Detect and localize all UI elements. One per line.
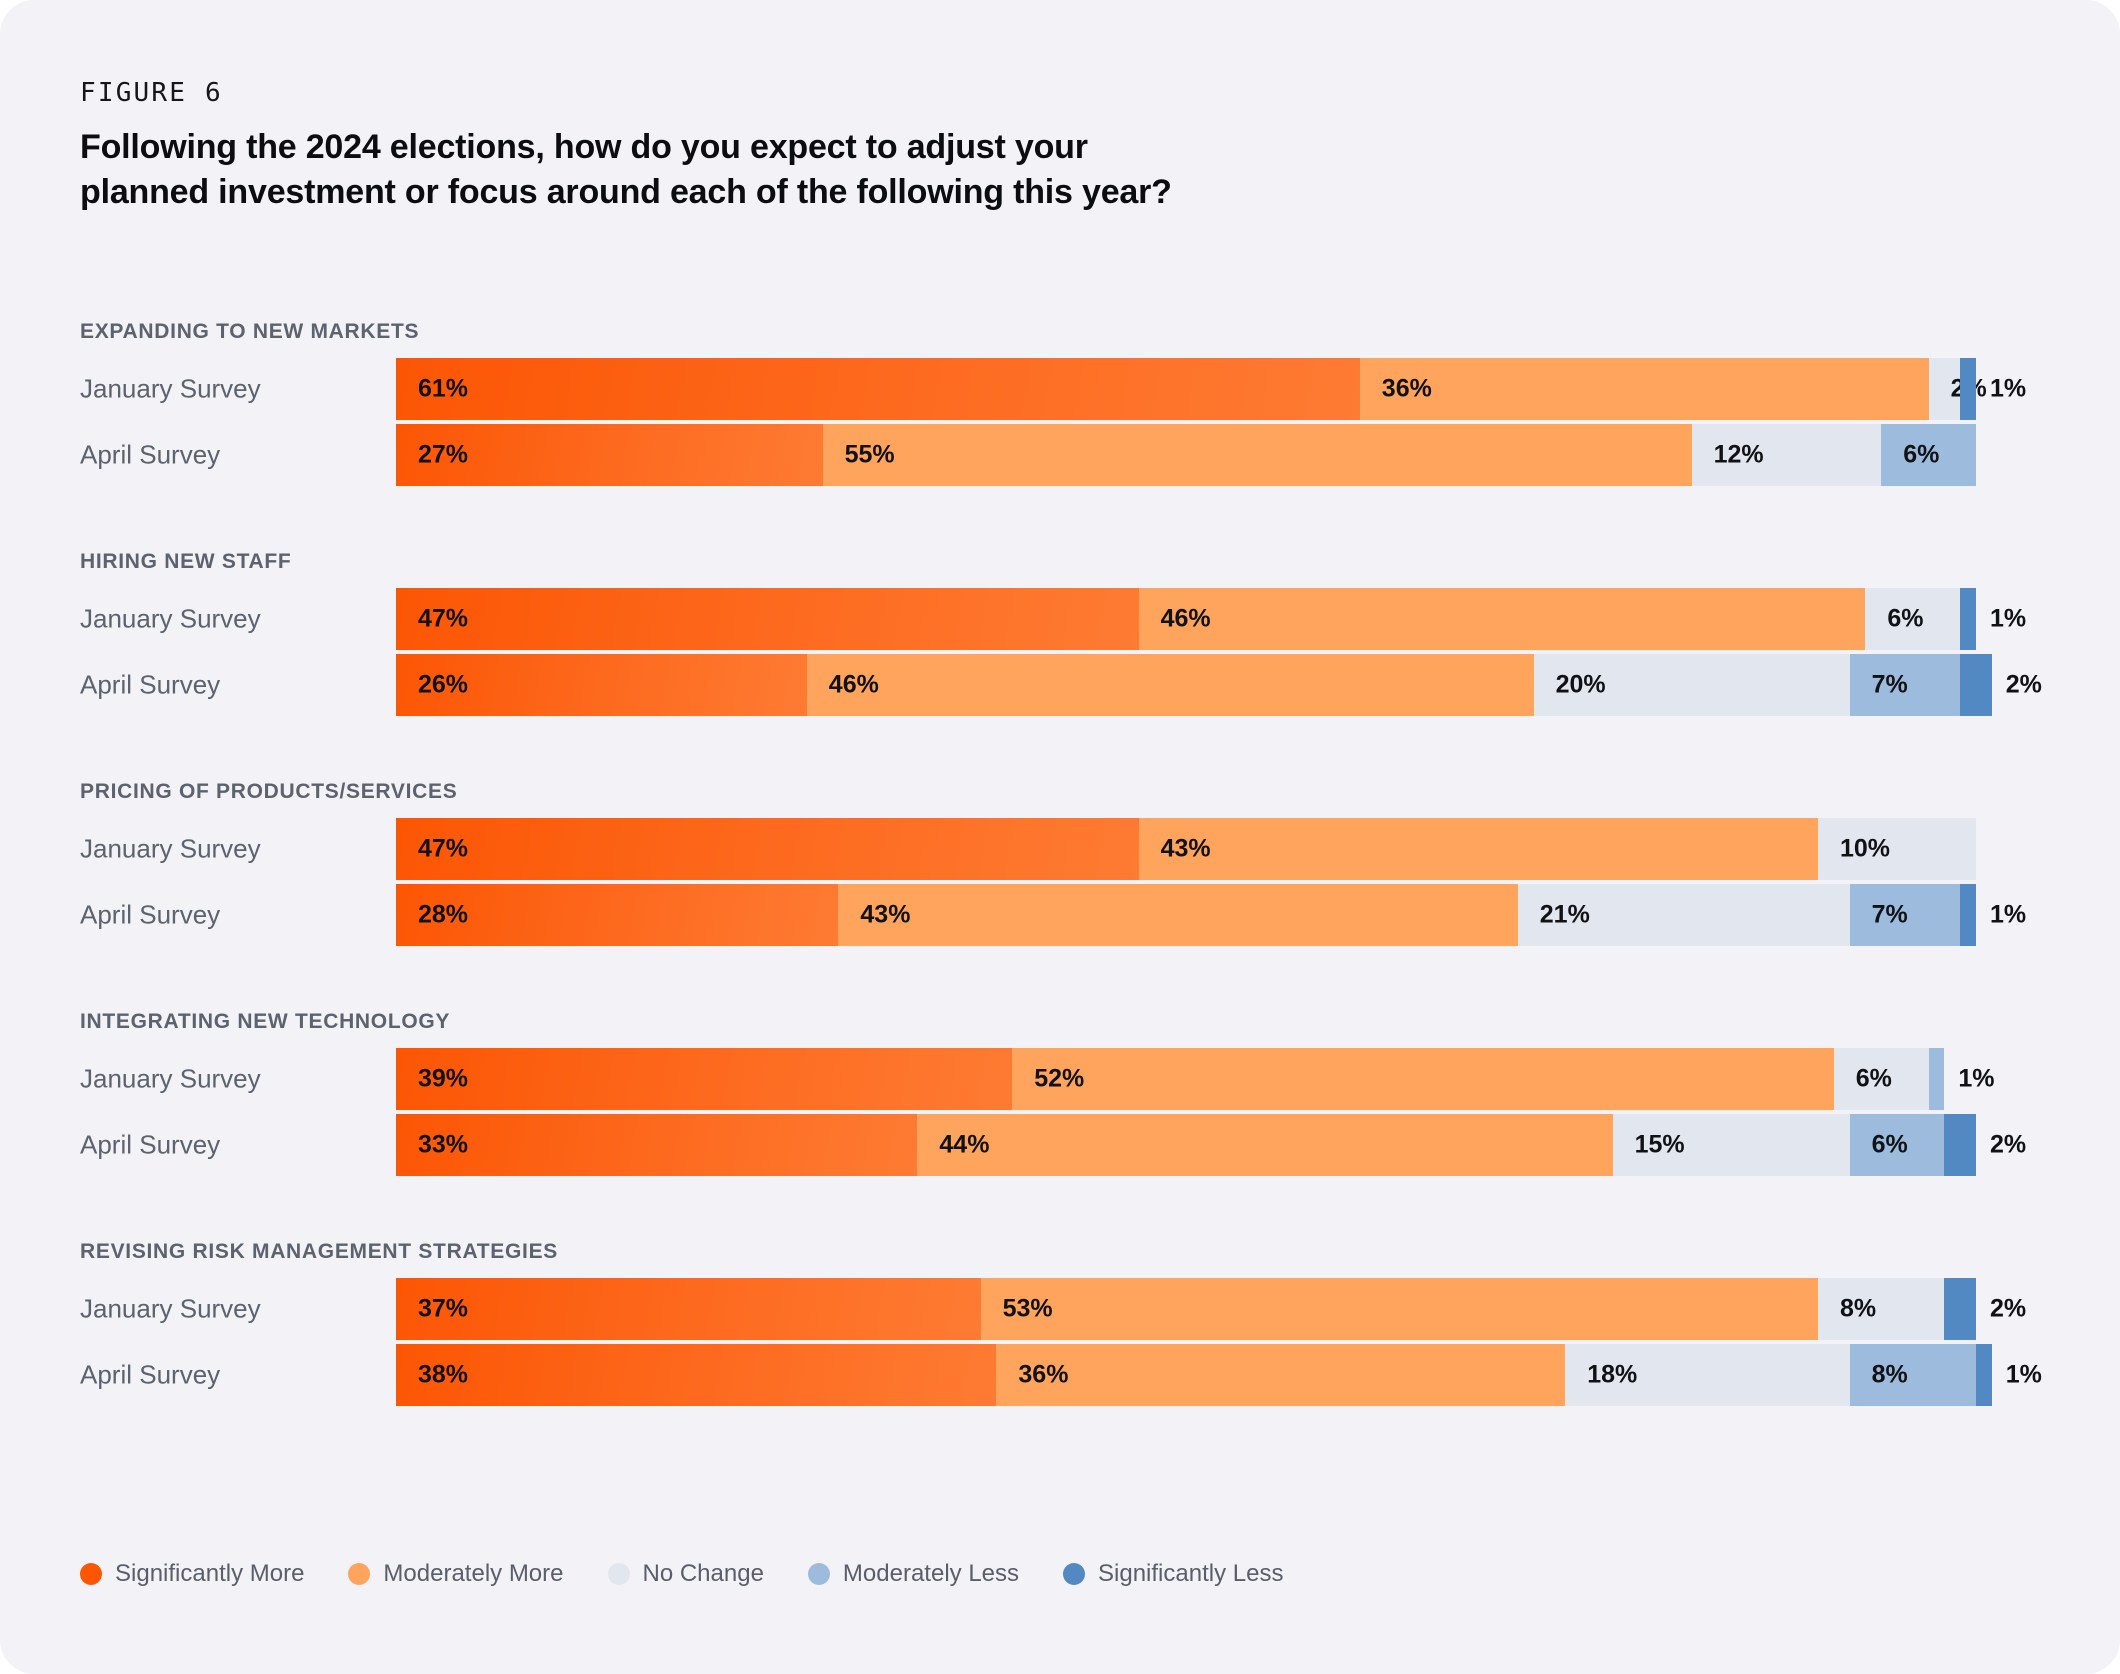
bar-segment-moderately-less: 6% (1850, 1114, 1945, 1176)
row-label: January Survey (80, 834, 261, 865)
bar-segment-significantly-more: 26% (396, 654, 807, 716)
segment-value-label: 33% (418, 1131, 468, 1160)
segment-value-label: 43% (860, 901, 910, 930)
legend-swatch-icon (80, 1563, 102, 1585)
segment-value-label: 46% (1161, 605, 1211, 634)
stacked-bar: 28%43%21%7%1% (396, 884, 1976, 946)
bar-segment-no-change: 10% (1818, 818, 1976, 880)
segment-value-label: 2% (1990, 1131, 2026, 1160)
segment-value-label: 10% (1840, 835, 1890, 864)
segment-value-label: 27% (418, 441, 468, 470)
chart-row: January Survey47%46%6%1% (0, 588, 2120, 650)
stacked-bar: 47%43%10% (396, 818, 1976, 880)
segment-value-label: 1% (1990, 375, 2026, 404)
stacked-bar: 47%46%6%1% (396, 588, 1976, 650)
segment-value-label: 2% (2006, 671, 2042, 700)
bar-segment-no-change: 6% (1834, 1048, 1929, 1110)
section-title: HIRING NEW STAFF (80, 550, 291, 574)
bar-segment-significantly-more: 47% (396, 588, 1139, 650)
bar-segment-significantly-less: 2% (1944, 1278, 1976, 1340)
segment-value-label: 1% (1958, 1065, 1994, 1094)
section-title: INTEGRATING NEW TECHNOLOGY (80, 1010, 450, 1034)
segment-value-label: 47% (418, 835, 468, 864)
bar-segment-significantly-less: 1% (1960, 358, 1976, 420)
bar-segment-moderately-less: 7% (1850, 654, 1961, 716)
figure-card: FIGURE 6 Following the 2024 elections, h… (0, 0, 2120, 1674)
chart-legend: Significantly MoreModerately MoreNo Chan… (80, 1560, 1327, 1588)
chart-row: April Survey33%44%15%6%2% (0, 1114, 2120, 1176)
legend-label: No Change (643, 1560, 764, 1588)
legend-swatch-icon (608, 1563, 630, 1585)
bar-segment-no-change: 2% (1929, 358, 1961, 420)
bar-segment-no-change: 6% (1865, 588, 1960, 650)
segment-value-label: 6% (1856, 1065, 1892, 1094)
chart-row: January Survey37%53%8%2% (0, 1278, 2120, 1340)
bar-segment-significantly-more: 37% (396, 1278, 981, 1340)
bar-segment-moderately-more: 53% (981, 1278, 1818, 1340)
figure-title-line-2: planned investment or focus around each … (80, 170, 1480, 215)
figure-number-label: FIGURE 6 (80, 78, 223, 108)
row-label: April Survey (80, 440, 220, 471)
stacked-bar: 33%44%15%6%2% (396, 1114, 1976, 1176)
chart-row: January Survey61%36%2%1% (0, 358, 2120, 420)
bar-segment-moderately-less: 6% (1881, 424, 1976, 486)
stacked-bar: 27%55%12%6% (396, 424, 1976, 486)
section-title: REVISING RISK MANAGEMENT STRATEGIES (80, 1240, 558, 1264)
segment-value-label: 18% (1587, 1361, 1637, 1390)
figure-title: Following the 2024 elections, how do you… (80, 125, 1480, 215)
segment-value-label: 36% (1018, 1361, 1068, 1390)
segment-value-label: 2% (1990, 1295, 2026, 1324)
stacked-bar: 39%52%6%1% (396, 1048, 1944, 1110)
segment-value-label: 53% (1003, 1295, 1053, 1324)
legend-label: Significantly More (115, 1560, 304, 1588)
bar-segment-significantly-less: 2% (1960, 654, 1992, 716)
segment-value-label: 44% (939, 1131, 989, 1160)
segment-value-label: 6% (1903, 441, 1939, 470)
segment-value-label: 6% (1887, 605, 1923, 634)
bar-segment-moderately-more: 52% (1012, 1048, 1834, 1110)
segment-value-label: 15% (1635, 1131, 1685, 1160)
segment-value-label: 1% (1990, 605, 2026, 634)
bar-segment-moderately-more: 43% (1139, 818, 1818, 880)
bar-segment-significantly-less: 2% (1944, 1114, 1976, 1176)
segment-value-label: 46% (829, 671, 879, 700)
legend-swatch-icon (348, 1563, 370, 1585)
bar-segment-moderately-less: 8% (1850, 1344, 1976, 1406)
segment-value-label: 20% (1556, 671, 1606, 700)
bar-segment-no-change: 18% (1565, 1344, 1849, 1406)
legend-swatch-icon (1063, 1563, 1085, 1585)
bar-segment-no-change: 8% (1818, 1278, 1944, 1340)
bar-segment-significantly-less: 1% (1960, 588, 1976, 650)
row-label: April Survey (80, 1360, 220, 1391)
bar-segment-moderately-more: 46% (1139, 588, 1866, 650)
row-label: January Survey (80, 1294, 261, 1325)
bar-segment-moderately-more: 46% (807, 654, 1534, 716)
bar-segment-moderately-more: 36% (996, 1344, 1565, 1406)
legend-label: Moderately More (383, 1560, 563, 1588)
segment-value-label: 37% (418, 1295, 468, 1324)
segment-value-label: 7% (1872, 671, 1908, 700)
bar-segment-moderately-more: 36% (1360, 358, 1929, 420)
row-label: January Survey (80, 604, 261, 635)
segment-value-label: 12% (1714, 441, 1764, 470)
bar-segment-moderately-more: 43% (838, 884, 1517, 946)
row-label: April Survey (80, 670, 220, 701)
figure-title-line-1: Following the 2024 elections, how do you… (80, 128, 1088, 166)
legend-item-moderately-less[interactable]: Moderately Less (808, 1560, 1019, 1588)
bar-segment-significantly-more: 27% (396, 424, 823, 486)
stacked-bar: 61%36%2%1% (396, 358, 1976, 420)
bar-segment-significantly-more: 33% (396, 1114, 917, 1176)
chart-row: April Survey38%36%18%8%1% (0, 1344, 2120, 1406)
bar-segment-significantly-more: 28% (396, 884, 838, 946)
bar-segment-no-change: 20% (1534, 654, 1850, 716)
bar-segment-no-change: 21% (1518, 884, 1850, 946)
stacked-bar: 26%46%20%7%2% (396, 654, 1992, 716)
bar-segment-significantly-more: 61% (396, 358, 1360, 420)
section-title: EXPANDING TO NEW MARKETS (80, 320, 419, 344)
bar-segment-significantly-more: 39% (396, 1048, 1012, 1110)
chart-row: April Survey26%46%20%7%2% (0, 654, 2120, 716)
bar-segment-moderately-more: 44% (917, 1114, 1612, 1176)
bar-segment-no-change: 12% (1692, 424, 1882, 486)
segment-value-label: 38% (418, 1361, 468, 1390)
segment-value-label: 39% (418, 1065, 468, 1094)
segment-value-label: 8% (1872, 1361, 1908, 1390)
chart-row: January Survey47%43%10% (0, 818, 2120, 880)
bar-segment-significantly-less: 1% (1960, 884, 1976, 946)
legend-item-significantly-less[interactable]: Significantly Less (1063, 1560, 1283, 1588)
segment-value-label: 8% (1840, 1295, 1876, 1324)
row-label: January Survey (80, 374, 261, 405)
legend-item-moderately-more[interactable]: Moderately More (348, 1560, 563, 1588)
segment-value-label: 21% (1540, 901, 1590, 930)
segment-value-label: 26% (418, 671, 468, 700)
row-label: January Survey (80, 1064, 261, 1095)
legend-swatch-icon (808, 1563, 830, 1585)
legend-label: Moderately Less (843, 1560, 1019, 1588)
segment-value-label: 52% (1034, 1065, 1084, 1094)
row-label: April Survey (80, 900, 220, 931)
segment-value-label: 6% (1872, 1131, 1908, 1160)
segment-value-label: 1% (1990, 901, 2026, 930)
segment-value-label: 55% (845, 441, 895, 470)
bar-segment-moderately-more: 55% (823, 424, 1692, 486)
stacked-bar: 38%36%18%8%1% (396, 1344, 1992, 1406)
chart-row: April Survey28%43%21%7%1% (0, 884, 2120, 946)
chart-row: January Survey39%52%6%1% (0, 1048, 2120, 1110)
segment-value-label: 36% (1382, 375, 1432, 404)
legend-item-significantly-more[interactable]: Significantly More (80, 1560, 304, 1588)
row-label: April Survey (80, 1130, 220, 1161)
segment-value-label: 1% (2006, 1361, 2042, 1390)
chart-row: April Survey27%55%12%6% (0, 424, 2120, 486)
segment-value-label: 7% (1872, 901, 1908, 930)
bar-segment-moderately-less: 1% (1929, 1048, 1945, 1110)
segment-value-label: 47% (418, 605, 468, 634)
segment-value-label: 43% (1161, 835, 1211, 864)
segment-value-label: 61% (418, 375, 468, 404)
bar-segment-no-change: 15% (1613, 1114, 1850, 1176)
section-title: PRICING OF PRODUCTS/SERVICES (80, 780, 457, 804)
bar-segment-moderately-less: 7% (1850, 884, 1961, 946)
legend-label: Significantly Less (1098, 1560, 1283, 1588)
bar-segment-significantly-more: 38% (396, 1344, 996, 1406)
stacked-bar: 37%53%8%2% (396, 1278, 1976, 1340)
legend-item-no-change[interactable]: No Change (608, 1560, 764, 1588)
bar-segment-significantly-less: 1% (1976, 1344, 1992, 1406)
bar-segment-significantly-more: 47% (396, 818, 1139, 880)
segment-value-label: 28% (418, 901, 468, 930)
